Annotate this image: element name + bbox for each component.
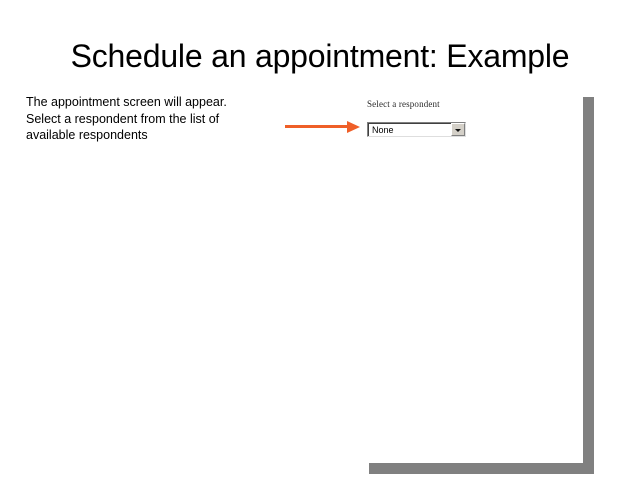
arrow-shaft (285, 125, 349, 128)
dropdown-button[interactable] (451, 123, 465, 136)
embedded-screenshot: Select a respondent None (366, 99, 468, 139)
arrow-right-icon (285, 121, 363, 133)
page-title: Schedule an appointment: Example (0, 38, 640, 75)
frame-right-edge (583, 97, 594, 474)
respondent-select-value: None (372, 124, 394, 136)
frame-bottom-edge (369, 463, 594, 474)
body-text: The appointment screen will appear. Sele… (26, 94, 258, 144)
slide-canvas: Schedule an appointment: Example The app… (0, 0, 640, 480)
chevron-down-icon (455, 129, 461, 132)
respondent-select[interactable]: None (367, 122, 466, 137)
arrow-head (347, 121, 360, 133)
respondent-select-label: Select a respondent (367, 99, 440, 109)
